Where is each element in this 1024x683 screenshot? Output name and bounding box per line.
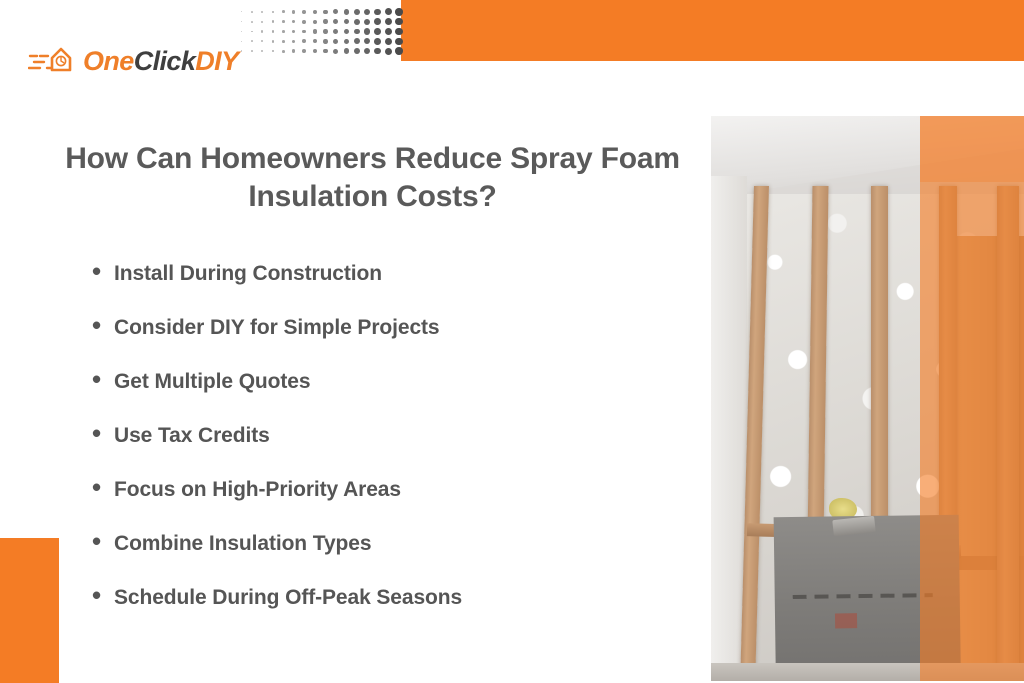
photo-panel-logo-swatch [835,613,857,628]
halftone-dot-cell [247,27,258,37]
halftone-dot-cell [362,7,373,17]
halftone-dot-cell [373,7,384,17]
halftone-dot [272,30,274,32]
halftone-dot [261,50,263,52]
halftone-dot [251,40,253,42]
halftone-dot-cell [310,17,321,27]
halftone-dot-cell [331,17,342,27]
halftone-dot-cell [236,7,247,17]
halftone-dot [374,28,381,35]
halftone-dot-cell [236,17,247,27]
bullet-marker-icon: • [92,474,114,500]
list-item-label: Combine Insulation Types [114,532,371,556]
photo-panel-print-line [793,593,933,599]
halftone-dot [282,20,285,23]
halftone-dot [374,38,381,45]
halftone-dot [344,9,349,14]
house-speed-icon [28,43,80,79]
halftone-dot-cell [278,46,289,56]
list-item-label: Consider DIY for Simple Projects [114,316,440,340]
halftone-dot-cell [257,7,268,17]
bullet-marker-icon: • [92,312,114,338]
halftone-dot [282,10,285,13]
halftone-dot [251,50,253,52]
halftone-dot [395,47,403,55]
halftone-dot-cell [310,27,321,37]
halftone-dot [292,40,295,43]
halftone-dot-cell [362,46,373,56]
halftone-dot [395,18,403,26]
halftone-dot [241,41,242,42]
halftone-dot-cell [352,17,363,27]
halftone-dot [344,48,349,53]
halftone-dot-cell [299,17,310,27]
halftone-dot [364,48,370,54]
list-item: •Consider DIY for Simple Projects [92,312,692,366]
header-orange-bar [401,0,1024,61]
halftone-dot-cell [289,17,300,27]
list-item-label: Focus on High-Priority Areas [114,478,401,502]
bullet-list: •Install During Construction•Consider DI… [92,258,692,636]
halftone-dot-cell [373,27,384,37]
halftone-dot-cell [383,27,394,37]
halftone-dot [272,20,274,22]
photo-orange-overlay [920,116,1024,681]
brand-word-one: One [83,46,134,76]
halftone-dot-cell [362,36,373,46]
slide-title: How Can Homeowners Reduce Spray Foam Ins… [55,140,690,216]
halftone-dot-cell [341,46,352,56]
halftone-dot [292,49,295,52]
halftone-dot [272,50,274,52]
halftone-dot [344,29,349,34]
list-item-label: Install During Construction [114,262,382,286]
bullet-marker-icon: • [92,528,114,554]
halftone-dot [241,50,242,51]
halftone-dot-cell [320,46,331,56]
brand-logo[interactable]: OneClickDIY [28,40,238,82]
halftone-dot-cell [341,36,352,46]
halftone-dot-cell [352,46,363,56]
halftone-dot [385,18,392,25]
halftone-dot-cell [299,46,310,56]
halftone-dot-cell [373,46,384,56]
list-item: •Focus on High-Priority Areas [92,474,692,528]
halftone-dot [323,29,328,34]
halftone-dot-cell [331,46,342,56]
halftone-dot-cell [289,7,300,17]
halftone-dot-row [236,36,404,46]
halftone-dot [261,40,263,42]
list-item: •Schedule During Off-Peak Seasons [92,582,692,636]
halftone-dot [241,11,242,12]
halftone-dot-cell [383,17,394,27]
halftone-dot [282,40,285,43]
halftone-dot-cell [289,46,300,56]
photo-orange-overlay-top [920,116,1024,182]
halftone-dot-cell [331,7,342,17]
footer-orange-block [0,538,59,683]
halftone-dot [251,11,253,13]
halftone-dot [313,20,317,24]
bullet-marker-icon: • [92,258,114,284]
halftone-dot [333,39,338,44]
halftone-dot [302,10,306,14]
halftone-dot [344,19,349,24]
list-item-label: Use Tax Credits [114,424,270,448]
halftone-dot-cell [268,27,279,37]
list-item-label: Get Multiple Quotes [114,370,310,394]
halftone-dot [354,38,360,44]
halftone-dot-row [236,7,404,17]
halftone-dot [292,10,295,13]
halftone-dot [313,39,317,43]
halftone-dot [241,21,242,22]
halftone-dot-cell [331,27,342,37]
halftone-dot-cell [247,46,258,56]
halftone-dot [333,9,338,14]
halftone-dot [302,30,306,34]
halftone-dot-cell [383,46,394,56]
halftone-dot-cell [373,36,384,46]
halftone-dot-decoration [236,7,404,56]
halftone-dot [374,9,381,16]
halftone-dot-row [236,46,404,56]
halftone-dot [364,9,370,15]
halftone-dot [313,10,317,14]
halftone-dot-cell [341,7,352,17]
list-item: •Get Multiple Quotes [92,366,692,420]
halftone-dot [395,38,403,46]
bullet-marker-icon: • [92,420,114,446]
halftone-dot-cell [268,46,279,56]
halftone-dot-cell [320,36,331,46]
halftone-dot-cell [341,17,352,27]
halftone-dot [333,49,338,54]
halftone-dot [292,20,295,23]
halftone-dot [374,18,381,25]
halftone-dot-cell [299,7,310,17]
halftone-dot [385,48,392,55]
halftone-dot [261,30,263,32]
halftone-dot-cell [299,36,310,46]
halftone-dot-cell [289,36,300,46]
halftone-dot-cell [331,36,342,46]
halftone-dot [354,29,360,35]
halftone-dot-cell [247,36,258,46]
halftone-dot [385,8,392,15]
halftone-dot-cell [247,7,258,17]
halftone-dot-cell [299,27,310,37]
halftone-dot [251,31,253,33]
halftone-dot-cell [257,27,268,37]
halftone-dot [354,48,360,54]
halftone-dot-cell [383,36,394,46]
halftone-dot [364,28,370,34]
halftone-dot-row [236,17,404,27]
halftone-dot [261,21,263,23]
halftone-dot-cell [289,27,300,37]
halftone-dot-cell [373,17,384,27]
halftone-dot-cell [310,7,321,17]
bullet-marker-icon: • [92,582,114,608]
halftone-dot [364,38,370,44]
halftone-dot-cell [278,17,289,27]
halftone-dot-cell [320,27,331,37]
halftone-dot [302,39,306,43]
halftone-dot [333,29,338,34]
halftone-dot [354,19,360,25]
halftone-dot [323,49,328,54]
halftone-dot-cell [341,27,352,37]
halftone-dot [292,30,295,33]
halftone-dot-cell [362,17,373,27]
halftone-dot-cell [394,17,405,27]
halftone-dot-cell [310,36,321,46]
insulation-photo: EXTERIOR WALLS - INTERIOR WALLS - FLOORS… [711,116,1024,681]
bullet-marker-icon: • [92,366,114,392]
halftone-dot-cell [394,27,405,37]
halftone-dot [364,19,370,25]
list-item-label: Schedule During Off-Peak Seasons [114,586,462,610]
halftone-dot-cell [278,27,289,37]
halftone-dot [354,9,360,15]
halftone-dot-cell [268,36,279,46]
halftone-dot [261,11,263,13]
halftone-dot-cell [257,17,268,27]
halftone-dot [323,39,328,44]
halftone-dot-cell [352,27,363,37]
halftone-dot [282,30,285,33]
halftone-dot [323,19,328,24]
brand-word-diy: DIY [195,46,238,76]
halftone-dot [272,40,274,42]
halftone-dot-cell [257,36,268,46]
halftone-dot-cell [383,7,394,17]
halftone-dot-cell [320,17,331,27]
halftone-dot-cell [257,46,268,56]
halftone-dot [395,8,403,16]
halftone-dot-cell [278,36,289,46]
halftone-dot [395,28,403,36]
halftone-dot [313,29,317,33]
halftone-dot [385,38,392,45]
halftone-dot [241,31,242,32]
halftone-dot [251,21,253,23]
halftone-dot-cell [394,7,405,17]
halftone-dot-cell [352,7,363,17]
list-item: •Install During Construction [92,258,692,312]
halftone-dot [302,20,306,24]
halftone-dot-cell [320,7,331,17]
brand-wordmark: OneClickDIY [83,48,238,75]
halftone-dot [272,11,274,13]
halftone-dot-cell [247,17,258,27]
halftone-dot-cell [310,46,321,56]
halftone-dot-cell [352,36,363,46]
halftone-dot [282,50,285,53]
halftone-dot [374,48,381,55]
halftone-dot [385,28,392,35]
halftone-dot [333,19,338,24]
halftone-dot-cell [268,7,279,17]
halftone-dot [344,39,349,44]
halftone-dot-cell [236,27,247,37]
halftone-dot-cell [278,7,289,17]
halftone-dot [323,10,328,15]
list-item: •Combine Insulation Types [92,528,692,582]
halftone-dot-cell [394,46,405,56]
halftone-dot-row [236,27,404,37]
brand-word-click: Click [134,46,196,76]
halftone-dot [313,49,317,53]
list-item: •Use Tax Credits [92,420,692,474]
halftone-dot-cell [268,17,279,27]
halftone-dot-cell [394,36,405,46]
halftone-dot-cell [362,27,373,37]
halftone-dot [302,49,306,53]
